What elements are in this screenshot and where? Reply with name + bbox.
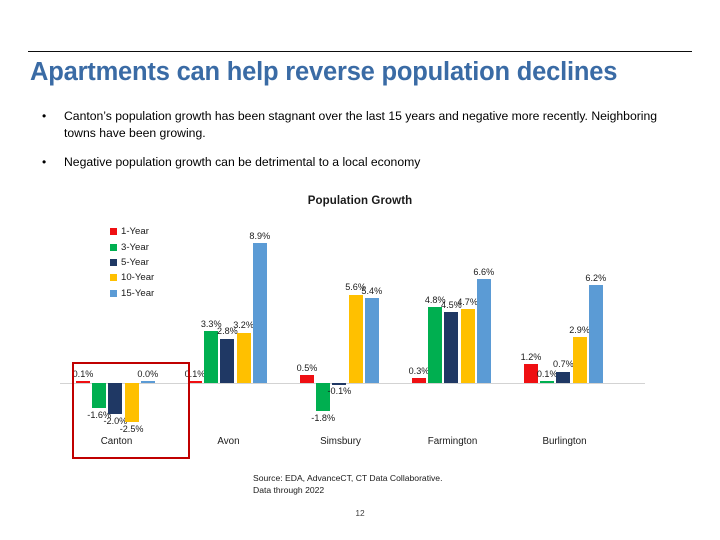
bar-burlington-5-year[interactable] — [556, 372, 570, 383]
bar-value-label: 6.2% — [576, 273, 616, 283]
bar-avon-5-year[interactable] — [220, 339, 234, 383]
bar-avon-1-year[interactable] — [188, 381, 202, 383]
bar-value-label: 5.4% — [352, 286, 392, 296]
bullet-text-1: Canton’s population growth has been stag… — [64, 108, 676, 142]
chart-plot-area: 0.1%-1.6%-2.0%-2.5%0.0%Canton0.1%3.3%2.8… — [0, 192, 720, 482]
bar-farmington-1-year[interactable] — [412, 378, 426, 383]
category-label-farmington: Farmington — [393, 436, 513, 447]
canton-highlight-box — [72, 362, 190, 459]
bullet-marker-icon: • — [36, 154, 64, 171]
bar-value-label: -1.8% — [303, 413, 343, 423]
bar-value-label: 0.5% — [287, 363, 327, 373]
bar-value-label: 6.6% — [464, 267, 504, 277]
bar-value-label: -0.1% — [319, 386, 359, 396]
source-line-2: Data through 2022 — [253, 485, 442, 497]
bar-value-label: 8.9% — [240, 231, 280, 241]
slide-canvas: Apartments can help reverse population d… — [0, 0, 720, 540]
bar-avon-15-year[interactable] — [253, 243, 267, 383]
bar-simsbury-10-year[interactable] — [349, 295, 363, 383]
bar-burlington-3-year[interactable] — [540, 381, 554, 383]
source-note: Source: EDA, AdvanceCT, CT Data Collabor… — [253, 473, 442, 496]
title-divider — [28, 51, 692, 52]
page-number: 12 — [0, 508, 720, 518]
bar-burlington-15-year[interactable] — [589, 285, 603, 383]
bar-simsbury-15-year[interactable] — [365, 298, 379, 383]
population-growth-chart: Population Growth 1-Year3-Year5-Year10-Y… — [0, 192, 720, 482]
bullet-item-1: • Canton’s population growth has been st… — [36, 108, 676, 142]
bullet-text-2: Negative population growth can be detrim… — [64, 154, 676, 171]
category-label-simsbury: Simsbury — [281, 436, 401, 447]
bar-avon-3-year[interactable] — [204, 331, 218, 383]
bar-burlington-10-year[interactable] — [573, 337, 587, 383]
bullet-item-2: • Negative population growth can be detr… — [36, 154, 676, 171]
bar-farmington-5-year[interactable] — [444, 312, 458, 383]
bar-simsbury-5-year[interactable] — [332, 383, 346, 385]
bar-farmington-3-year[interactable] — [428, 307, 442, 383]
source-line-1: Source: EDA, AdvanceCT, CT Data Collabor… — [253, 473, 442, 485]
bar-simsbury-1-year[interactable] — [300, 375, 314, 383]
bullet-list: • Canton’s population growth has been st… — [36, 108, 676, 183]
bar-farmington-10-year[interactable] — [461, 309, 475, 383]
bar-farmington-15-year[interactable] — [477, 279, 491, 383]
bullet-marker-icon: • — [36, 108, 64, 125]
bar-avon-10-year[interactable] — [237, 333, 251, 383]
category-label-burlington: Burlington — [505, 436, 625, 447]
page-title: Apartments can help reverse population d… — [30, 57, 690, 87]
